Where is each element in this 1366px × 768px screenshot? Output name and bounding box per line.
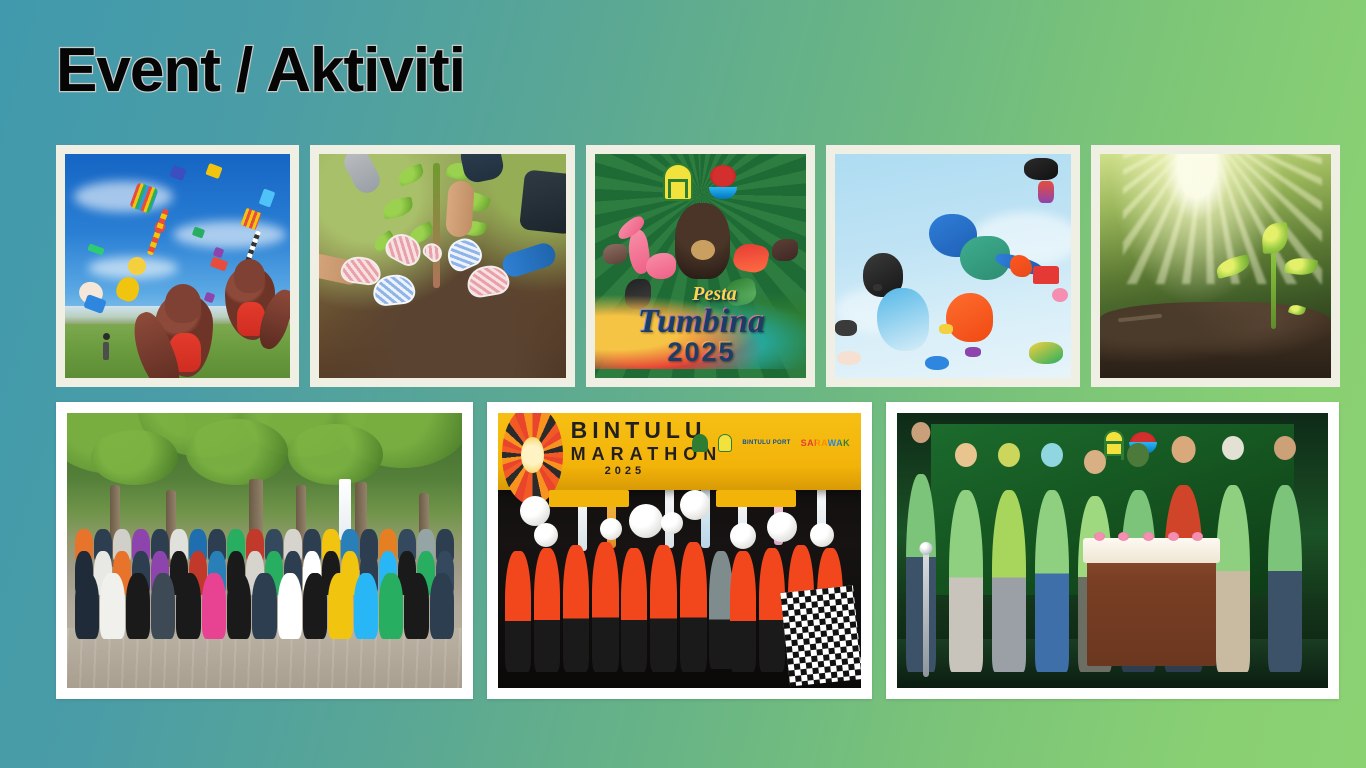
marathon-arch: BINTULU MARATHON 2025 BINTULU PORT SARAW… [498, 413, 861, 490]
seahorse-kite [929, 214, 1038, 290]
photo-community-run-group-photo [67, 413, 462, 688]
photo-kites-in-blue-sky [835, 154, 1071, 378]
ceremonial-cake [1083, 538, 1220, 562]
cake-table [1087, 556, 1216, 666]
photo-pesta-tumbina-poster: Pesta Tumbina 2025 [595, 154, 806, 378]
poster-logo-group [595, 163, 806, 201]
photo-kite-festival-field [65, 154, 290, 378]
sun-bear [675, 203, 730, 279]
gallery-row-top: Pesta Tumbina 2025 [56, 145, 1340, 387]
photo-card-kites-in-blue-sky[interactable] [826, 145, 1080, 387]
page-title: Event / Aktiviti [56, 38, 465, 103]
photo-card-kite-festival-field[interactable] [56, 145, 299, 387]
photo-card-seedling-in-soil[interactable] [1091, 145, 1340, 387]
shield-emblem-icon [663, 163, 693, 201]
poster-line-2: Tumbina [595, 304, 806, 338]
poster-line-1: Pesta [609, 284, 806, 304]
marathon-sponsor-logos: BINTULU PORT SARAWAK [692, 433, 850, 453]
sponsor-sarawak-label: SARAWAK [801, 438, 851, 448]
shield-logo-icon [718, 433, 732, 453]
photo-bintulu-marathon-start-line: BINTULU MARATHON 2025 BINTULU PORT SARAW… [498, 413, 861, 688]
photo-cake-cutting-ceremony [897, 413, 1328, 688]
stanchion-post [923, 551, 929, 678]
photo-card-community-run-group-photo[interactable] [56, 402, 473, 699]
photo-card-pesta-tumbina-poster[interactable]: Pesta Tumbina 2025 [586, 145, 815, 387]
poster-title-block: Pesta Tumbina 2025 [595, 284, 806, 365]
photo-card-bintulu-marathon-start-line[interactable]: BINTULU MARATHON 2025 BINTULU PORT SARAW… [487, 402, 872, 699]
photo-card-cake-cutting-ceremony[interactable] [886, 402, 1339, 699]
checkered-flag [780, 585, 861, 686]
gallery-row-bottom: BINTULU MARATHON 2025 BINTULU PORT SARAW… [56, 402, 1340, 699]
marathon-title-line-3: 2025 [605, 466, 723, 477]
backdrop-shield-emblem-icon [1104, 430, 1124, 456]
photo-seedling-in-soil [1100, 154, 1331, 378]
sponsor-bintulu-port-label: BINTULU PORT [742, 440, 790, 446]
hornbill-logo-icon [692, 433, 708, 453]
globe-emblem-icon [707, 163, 739, 201]
poster-line-3: 2025 [595, 338, 806, 365]
photo-tree-planting-hands [319, 154, 566, 378]
photo-card-tree-planting-hands[interactable] [310, 145, 575, 387]
